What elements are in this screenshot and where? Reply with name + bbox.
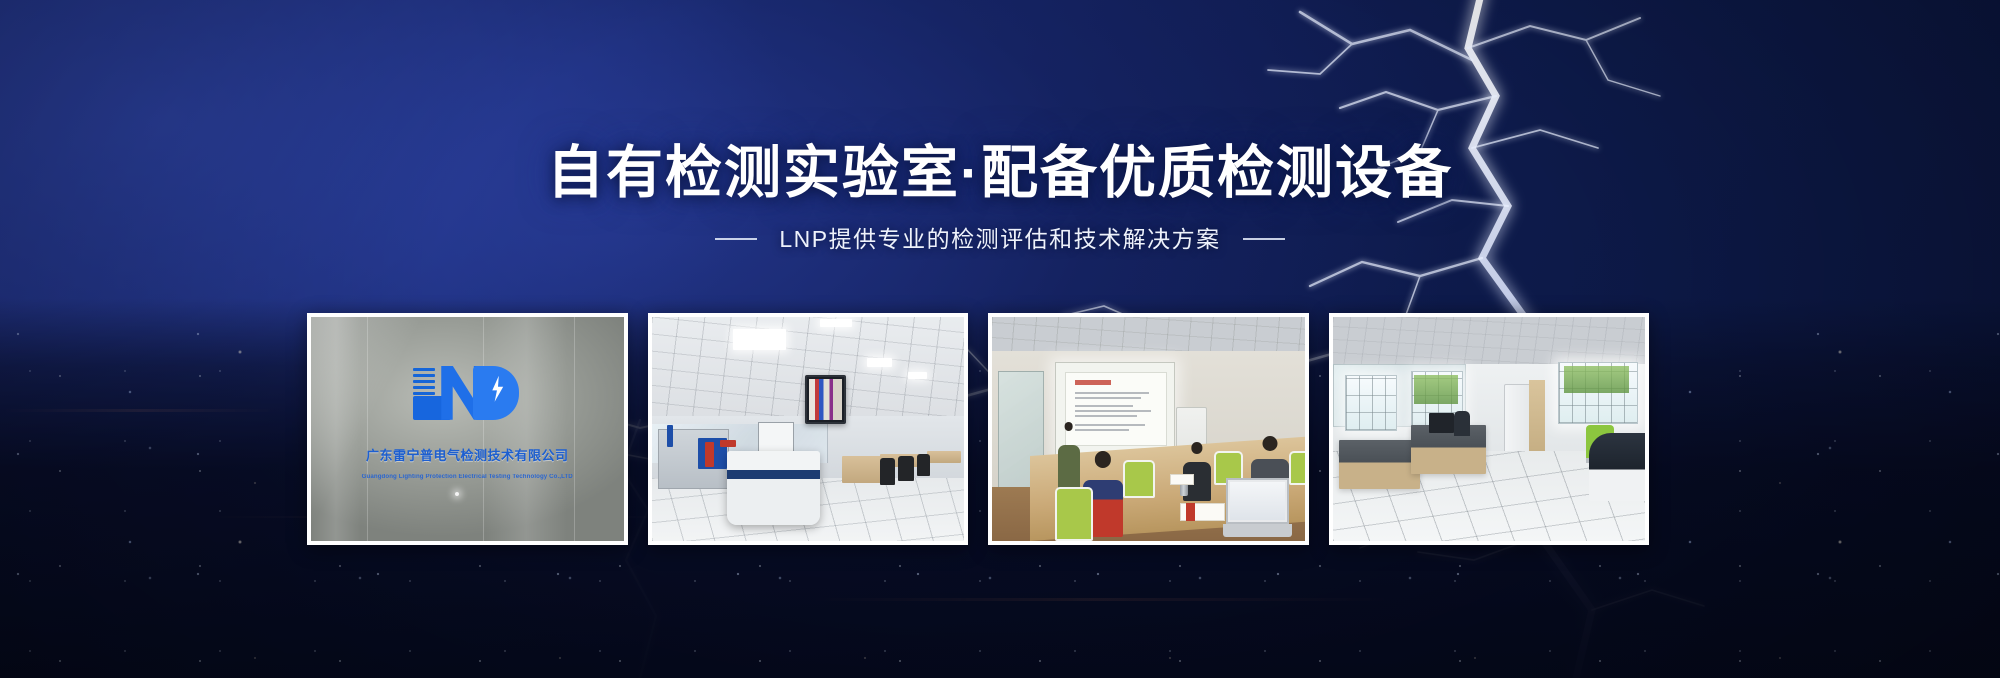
banner-subheadline: LNP提供专业的检测评估和技术解决方案 bbox=[779, 224, 1220, 254]
wall-mounted-display bbox=[805, 375, 847, 424]
laptop-lid bbox=[1226, 478, 1289, 524]
photo-card-meeting-room[interactable] bbox=[988, 313, 1309, 545]
banner-headline: 自有检测实验室·配备优质检测设备 bbox=[0, 140, 2000, 206]
meeting-chair bbox=[1055, 487, 1093, 540]
foliage-outside-window bbox=[1564, 366, 1630, 393]
photo-testing-laboratory bbox=[652, 317, 965, 541]
person-head bbox=[1191, 442, 1202, 453]
meeting-room-ceiling bbox=[992, 317, 1305, 353]
wall-highlight bbox=[311, 317, 361, 541]
logo-bars bbox=[413, 368, 435, 396]
person-head bbox=[1263, 436, 1278, 451]
logo-letter-p bbox=[473, 366, 519, 420]
photo-meeting-room bbox=[992, 317, 1305, 541]
wall-seam bbox=[483, 317, 484, 541]
office-worker bbox=[1454, 411, 1470, 436]
laptop-screen bbox=[1230, 482, 1285, 520]
photo-gallery-strip: 广东雷宁普电气检测技术有限公司 Guangdong Lighting Prote… bbox=[307, 313, 1649, 545]
foliage-outside-window bbox=[1414, 375, 1458, 404]
hero-banner: 自有检测实验室·配备优质检测设备 LNP提供专业的检测评估和技术解决方案 bbox=[0, 0, 2000, 678]
desktop-monitor bbox=[1429, 413, 1454, 433]
wall-highlight bbox=[486, 317, 567, 541]
red-folder bbox=[1186, 503, 1195, 521]
ceiling-light-panel bbox=[908, 372, 927, 379]
window-mullions bbox=[1346, 376, 1396, 430]
photo-card-testing-laboratory[interactable] bbox=[648, 313, 969, 545]
photo-office bbox=[1333, 317, 1646, 541]
office-window bbox=[1345, 375, 1397, 431]
person-body bbox=[1058, 445, 1080, 489]
office-desk bbox=[1339, 440, 1420, 489]
ceiling-light-panel bbox=[867, 358, 892, 367]
company-name-chinese: 广东雷宁普电气检测技术有限公司 bbox=[311, 445, 624, 464]
presentation-slide bbox=[1065, 372, 1167, 445]
banner-text-block: 自有检测实验室·配备优质检测设备 LNP提供专业的检测评估和技术解决方案 bbox=[0, 140, 2000, 254]
display-screen-content bbox=[809, 379, 843, 420]
photo-card-company-sign[interactable]: 广东雷宁普电气检测技术有限公司 Guangdong Lighting Prote… bbox=[307, 313, 628, 545]
laptop-computer bbox=[1223, 478, 1292, 536]
person-head bbox=[1064, 422, 1073, 431]
blue-post bbox=[667, 425, 673, 447]
meeting-chair bbox=[1123, 460, 1155, 498]
person-head bbox=[1095, 451, 1111, 467]
rule-right-decoration bbox=[1243, 238, 1285, 240]
rule-left-decoration bbox=[715, 238, 757, 240]
red-insulator bbox=[705, 442, 714, 467]
banner-content: 自有检测实验室·配备优质检测设备 LNP提供专业的检测评估和技术解决方案 bbox=[0, 0, 2000, 678]
photo-card-office[interactable] bbox=[1329, 313, 1650, 545]
office-chair bbox=[898, 456, 914, 481]
photo-company-sign: 广东雷宁普电气检测技术有限公司 Guangdong Lighting Prote… bbox=[311, 317, 624, 541]
wall-seam bbox=[574, 317, 575, 541]
wall-seam bbox=[367, 317, 368, 541]
office-chair bbox=[917, 454, 930, 476]
presenter-person bbox=[1058, 422, 1080, 489]
slide-title-bar bbox=[1075, 380, 1111, 385]
red-cable bbox=[720, 440, 736, 447]
wooden-desk bbox=[842, 456, 883, 483]
reception-counter bbox=[1589, 433, 1645, 500]
lnp-logo-mark bbox=[411, 362, 523, 422]
company-name-english: Guangdong Lighting Protection Electrical… bbox=[311, 474, 624, 480]
banner-subheadline-row: LNP提供专业的检测评估和技术解决方案 bbox=[0, 224, 2000, 254]
wall-light-reflection bbox=[455, 492, 459, 496]
ceiling-light-panel bbox=[820, 319, 851, 327]
paper-document bbox=[1170, 474, 1194, 485]
office-ceiling bbox=[1333, 317, 1646, 366]
control-console bbox=[727, 451, 821, 525]
office-chair bbox=[880, 458, 896, 485]
wooden-desk bbox=[927, 451, 961, 462]
laptop-keyboard-base bbox=[1223, 524, 1292, 537]
ceiling-light-panel bbox=[733, 329, 786, 350]
